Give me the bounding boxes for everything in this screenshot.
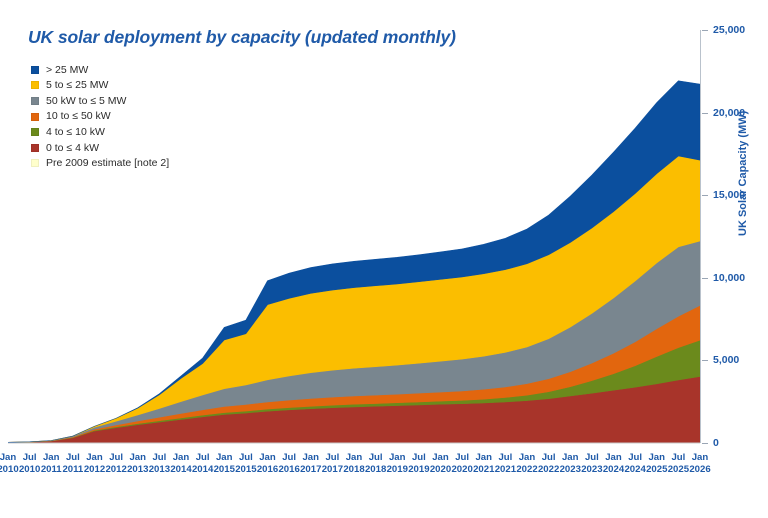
x-tick-month: Jan xyxy=(685,452,715,464)
x-tick-year: 2026 xyxy=(685,464,715,476)
plot-svg xyxy=(8,24,702,449)
stacked-area-plot xyxy=(8,24,702,449)
y-tick-label: 10,000 xyxy=(713,272,745,284)
x-axis: Jan2010Jul2010Jan2011Jul2011Jan2012Jul20… xyxy=(0,452,768,492)
chart-root: UK solar deployment by capacity (updated… xyxy=(0,0,768,518)
y-tick-mark xyxy=(702,278,708,279)
y-tick-mark xyxy=(702,30,708,31)
y-axis-line xyxy=(700,30,701,443)
y-tick-mark xyxy=(702,360,708,361)
y-tick-mark xyxy=(702,443,708,444)
y-tick-mark xyxy=(702,195,708,196)
y-tick-label: 0 xyxy=(713,437,719,449)
y-axis-title: UK Solar Capacity (MW) xyxy=(737,111,749,236)
y-tick-mark xyxy=(702,113,708,114)
y-axis: 05,00010,00015,00020,00025,000 xyxy=(700,24,768,449)
y-tick-label: 25,000 xyxy=(713,24,745,36)
y-tick-label: 5,000 xyxy=(713,354,739,366)
x-tick-label: Jan2026 xyxy=(685,452,715,475)
